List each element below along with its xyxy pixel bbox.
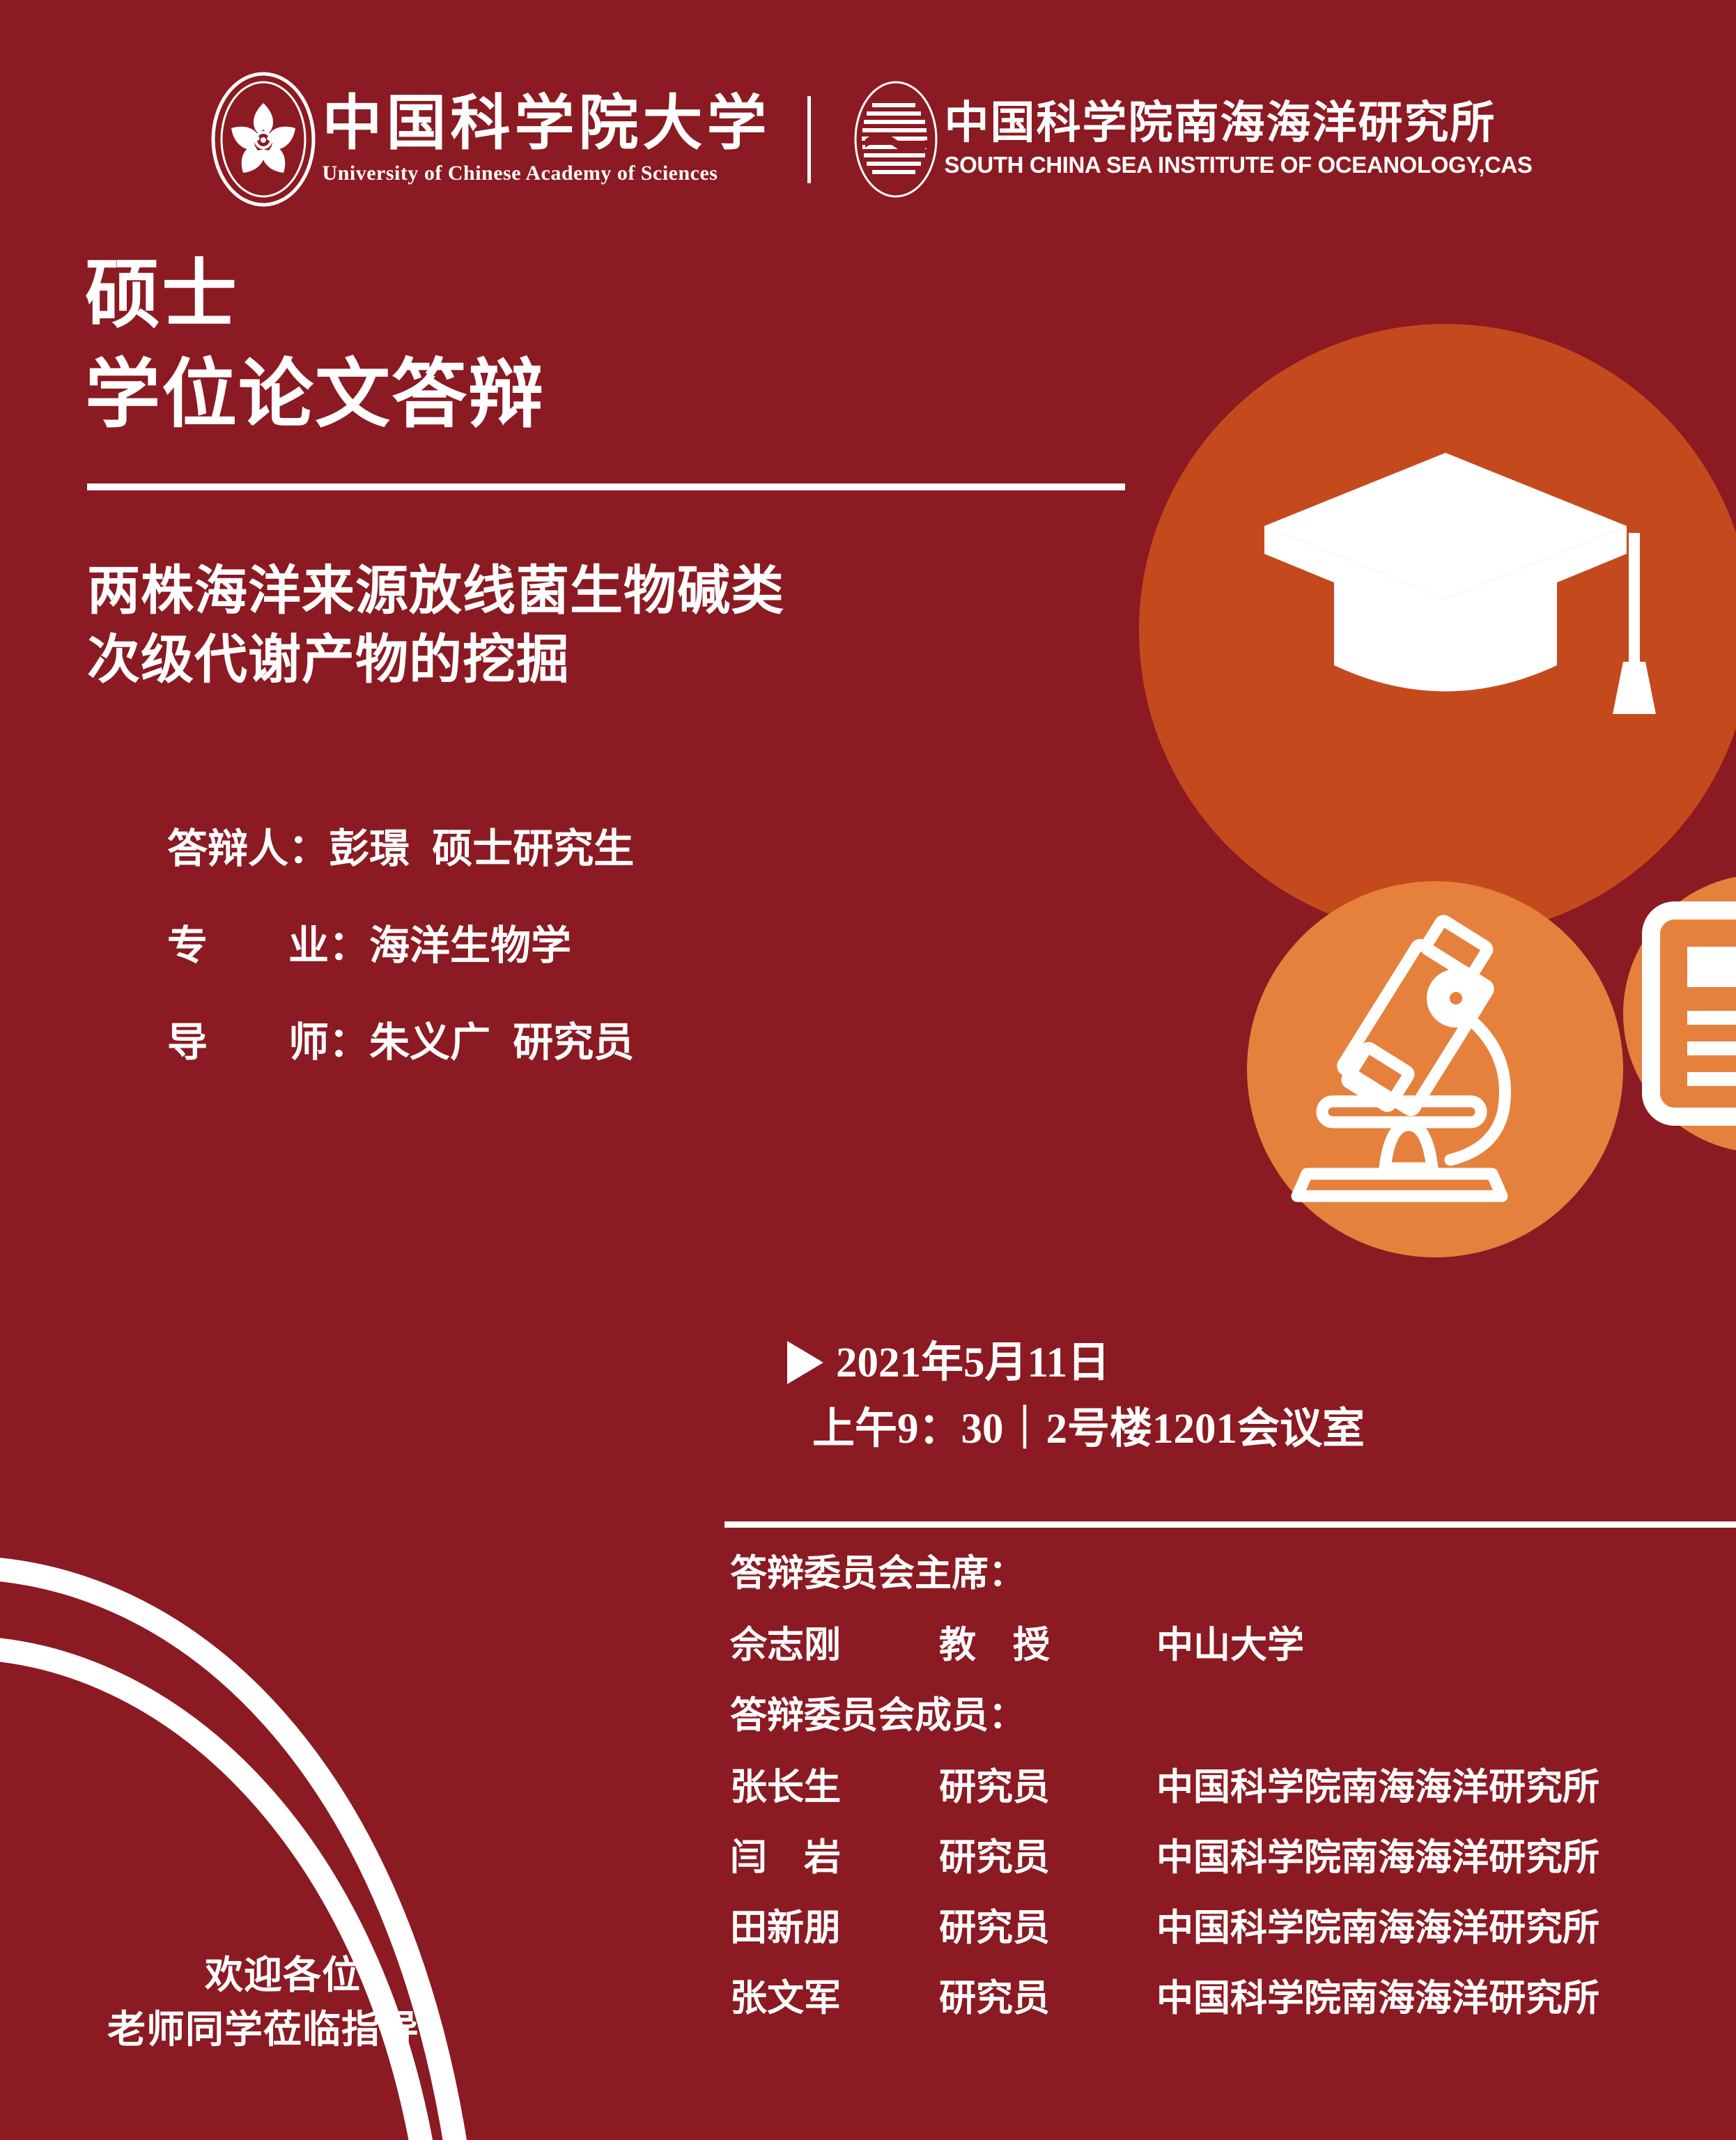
member-org: 中国科学院南海海洋研究所 [1156,1839,1599,1876]
member-title: 研究员 [939,1909,1156,1946]
committee-member-row: 闫 岩 研究员 中国科学院南海海洋研究所 [730,1839,1599,1876]
date-row: 2021年5月11日 [787,1341,1365,1384]
member-title: 研究员 [939,1839,1156,1876]
ucas-logo: 中国科学院大学 University of Chinese Academy of… [204,70,771,209]
member-name: 张长生 [730,1769,939,1806]
title-divider [87,483,1125,490]
committee-member-row: 张长生 研究员 中国科学院南海海洋研究所 [730,1769,1599,1806]
major-row: 专 业：海洋生物学 [167,926,634,966]
chair-title: 教 授 [939,1627,1156,1664]
committee-member-row: 张文军 研究员 中国科学院南海海洋研究所 [730,1980,1599,2017]
chair-org: 中山大学 [1156,1627,1599,1664]
member-org: 中国科学院南海海洋研究所 [1156,1769,1599,1806]
heading-line-2: 学位论文答辩 [85,345,545,444]
committee-block: 答辩委员会主席： 佘志刚 教 授 中山大学 答辩委员会成员： 张长生 研究员 中… [730,1555,1599,2050]
document-icon [1623,874,1736,1153]
microscope-icon [1247,881,1623,1257]
ucas-name-en: University of Chinese Academy of Science… [323,162,771,185]
microscope-circle [1247,881,1623,1257]
welcome-line-1: 欢迎各位 [67,1948,499,2002]
page-title: 硕士 学位论文答辩 [85,245,545,444]
defense-date: 2021年5月11日 [836,1342,1110,1384]
member-title: 研究员 [939,1980,1156,2017]
thesis-title-line-2: 次级代谢产物的挖掘 [87,626,1146,695]
scsio-name-en: SOUTH CHINA SEA INSTITUTE OF OCEANOLOGY,… [945,152,1533,178]
scsio-name-cn: 中国科学院南海海洋研究所 [945,100,1533,145]
schedule-block: 2021年5月11日 上午9：30｜2号楼1201会议室 [787,1341,1365,1450]
presenter-details: 答辩人：彭璟 硕士研究生 专 业：海洋生物学 导 师：朱义广 研究员 [167,829,634,1119]
member-org: 中国科学院南海海洋研究所 [1156,1980,1599,2017]
member-name: 田新朋 [730,1909,939,1946]
welcome-message: 欢迎各位 老师同学莅临指导！ [67,1948,499,2056]
committee-divider [724,1521,1736,1528]
institution-header: 中国科学院大学 University of Chinese Academy of… [0,66,1736,212]
graduation-cap-circle [1139,324,1736,937]
ucas-name-cn: 中国科学院大学 [323,93,771,153]
member-name: 闫 岩 [730,1839,939,1876]
committee-chair-row: 佘志刚 教 授 中山大学 [730,1627,1599,1664]
scsio-logo: 中国科学院南海海洋研究所 SOUTH CHINA SEA INSTITUTE O… [847,75,1533,204]
time-venue-row: 上午9：30｜2号楼1201会议室 [812,1408,1365,1450]
play-triangle-icon [787,1341,823,1384]
member-name: 张文军 [730,1980,939,2017]
defense-poster: 中国科学院大学 University of Chinese Academy of… [0,0,1736,2140]
thesis-title: 两株海洋来源放线菌生物碱类 次级代谢产物的挖掘 [87,557,1146,695]
thesis-title-line-1: 两株海洋来源放线菌生物碱类 [87,557,1146,626]
committee-member-row: 田新朋 研究员 中国科学院南海海洋研究所 [730,1909,1599,1946]
document-circle [1623,874,1736,1153]
member-title: 研究员 [939,1769,1156,1806]
logo-divider [807,96,811,183]
chair-heading: 答辩委员会主席： [730,1555,1599,1592]
member-org: 中国科学院南海海洋研究所 [1156,1909,1599,1946]
welcome-line-2: 老师同学莅临指导！ [67,2002,499,2056]
members-heading: 答辩委员会成员： [730,1697,1599,1734]
advisor-row: 导 师：朱义广 研究员 [167,1023,634,1063]
graduation-cap-icon [1139,324,1736,937]
presenter-row: 答辩人：彭璟 硕士研究生 [167,829,634,869]
scsio-seal-icon [847,75,945,204]
chair-name: 佘志刚 [730,1627,939,1664]
ucas-seal-icon [204,70,323,209]
heading-line-1: 硕士 [85,245,545,345]
